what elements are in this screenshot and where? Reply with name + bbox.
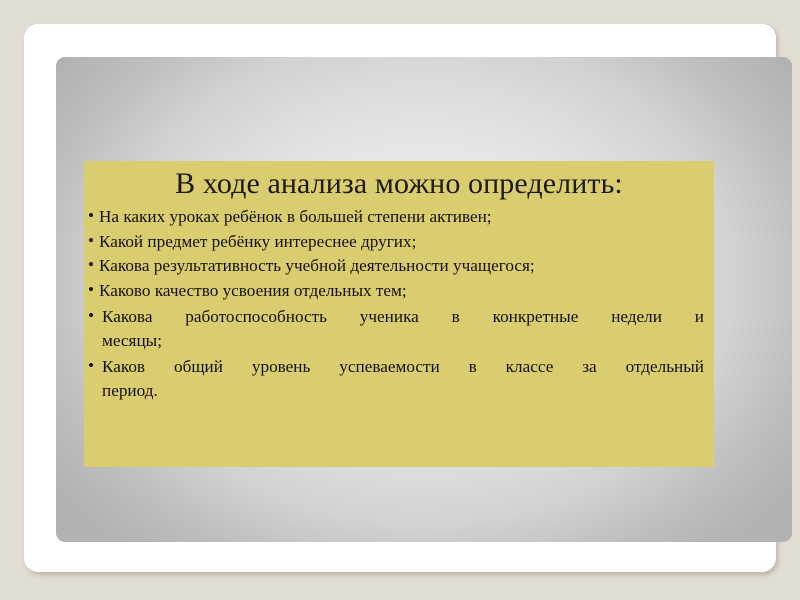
list-item-label: Какой предмет ребёнку интереснее других; bbox=[99, 232, 416, 251]
list-item-line: Каков общий уровень успеваемости в класс… bbox=[102, 355, 704, 379]
bullet-list: • На каких уроках ребёнок в большей степ… bbox=[84, 205, 714, 404]
bullet-icon: • bbox=[88, 278, 94, 302]
list-item-line: Какова работоспособность ученика в конкр… bbox=[102, 305, 704, 329]
page-title: В ходе анализа можно определить: bbox=[84, 161, 714, 201]
list-item: • Какова результативность учебной деятел… bbox=[88, 254, 704, 278]
list-item: • Какой предмет ребёнку интереснее други… bbox=[88, 230, 704, 254]
bullet-icon: • bbox=[88, 229, 94, 253]
slide-canvas: В ходе анализа можно определить: • На ка… bbox=[56, 57, 792, 542]
list-item: • Каково качество усвоения отдельных тем… bbox=[88, 279, 704, 303]
bullet-icon: • bbox=[88, 304, 94, 328]
bullet-icon: • bbox=[88, 354, 94, 378]
list-item: • Каков общий уровень успеваемости в кла… bbox=[88, 355, 704, 404]
list-item-line: месяцы; bbox=[102, 329, 704, 353]
list-item-label: Каково качество усвоения отдельных тем; bbox=[99, 281, 407, 300]
list-item: • Какова работоспособность ученика в кон… bbox=[88, 305, 704, 354]
bullet-icon: • bbox=[88, 204, 94, 228]
list-item-label: Какова результативность учебной деятельн… bbox=[99, 256, 535, 275]
bullet-icon: • bbox=[88, 253, 94, 277]
slide-frame: В ходе анализа можно определить: • На ка… bbox=[24, 24, 776, 572]
list-item-line: период. bbox=[102, 379, 704, 403]
content-panel: В ходе анализа можно определить: • На ка… bbox=[84, 161, 714, 467]
list-item: • На каких уроках ребёнок в большей степ… bbox=[88, 205, 704, 229]
list-item-label: На каких уроках ребёнок в большей степен… bbox=[99, 207, 492, 226]
